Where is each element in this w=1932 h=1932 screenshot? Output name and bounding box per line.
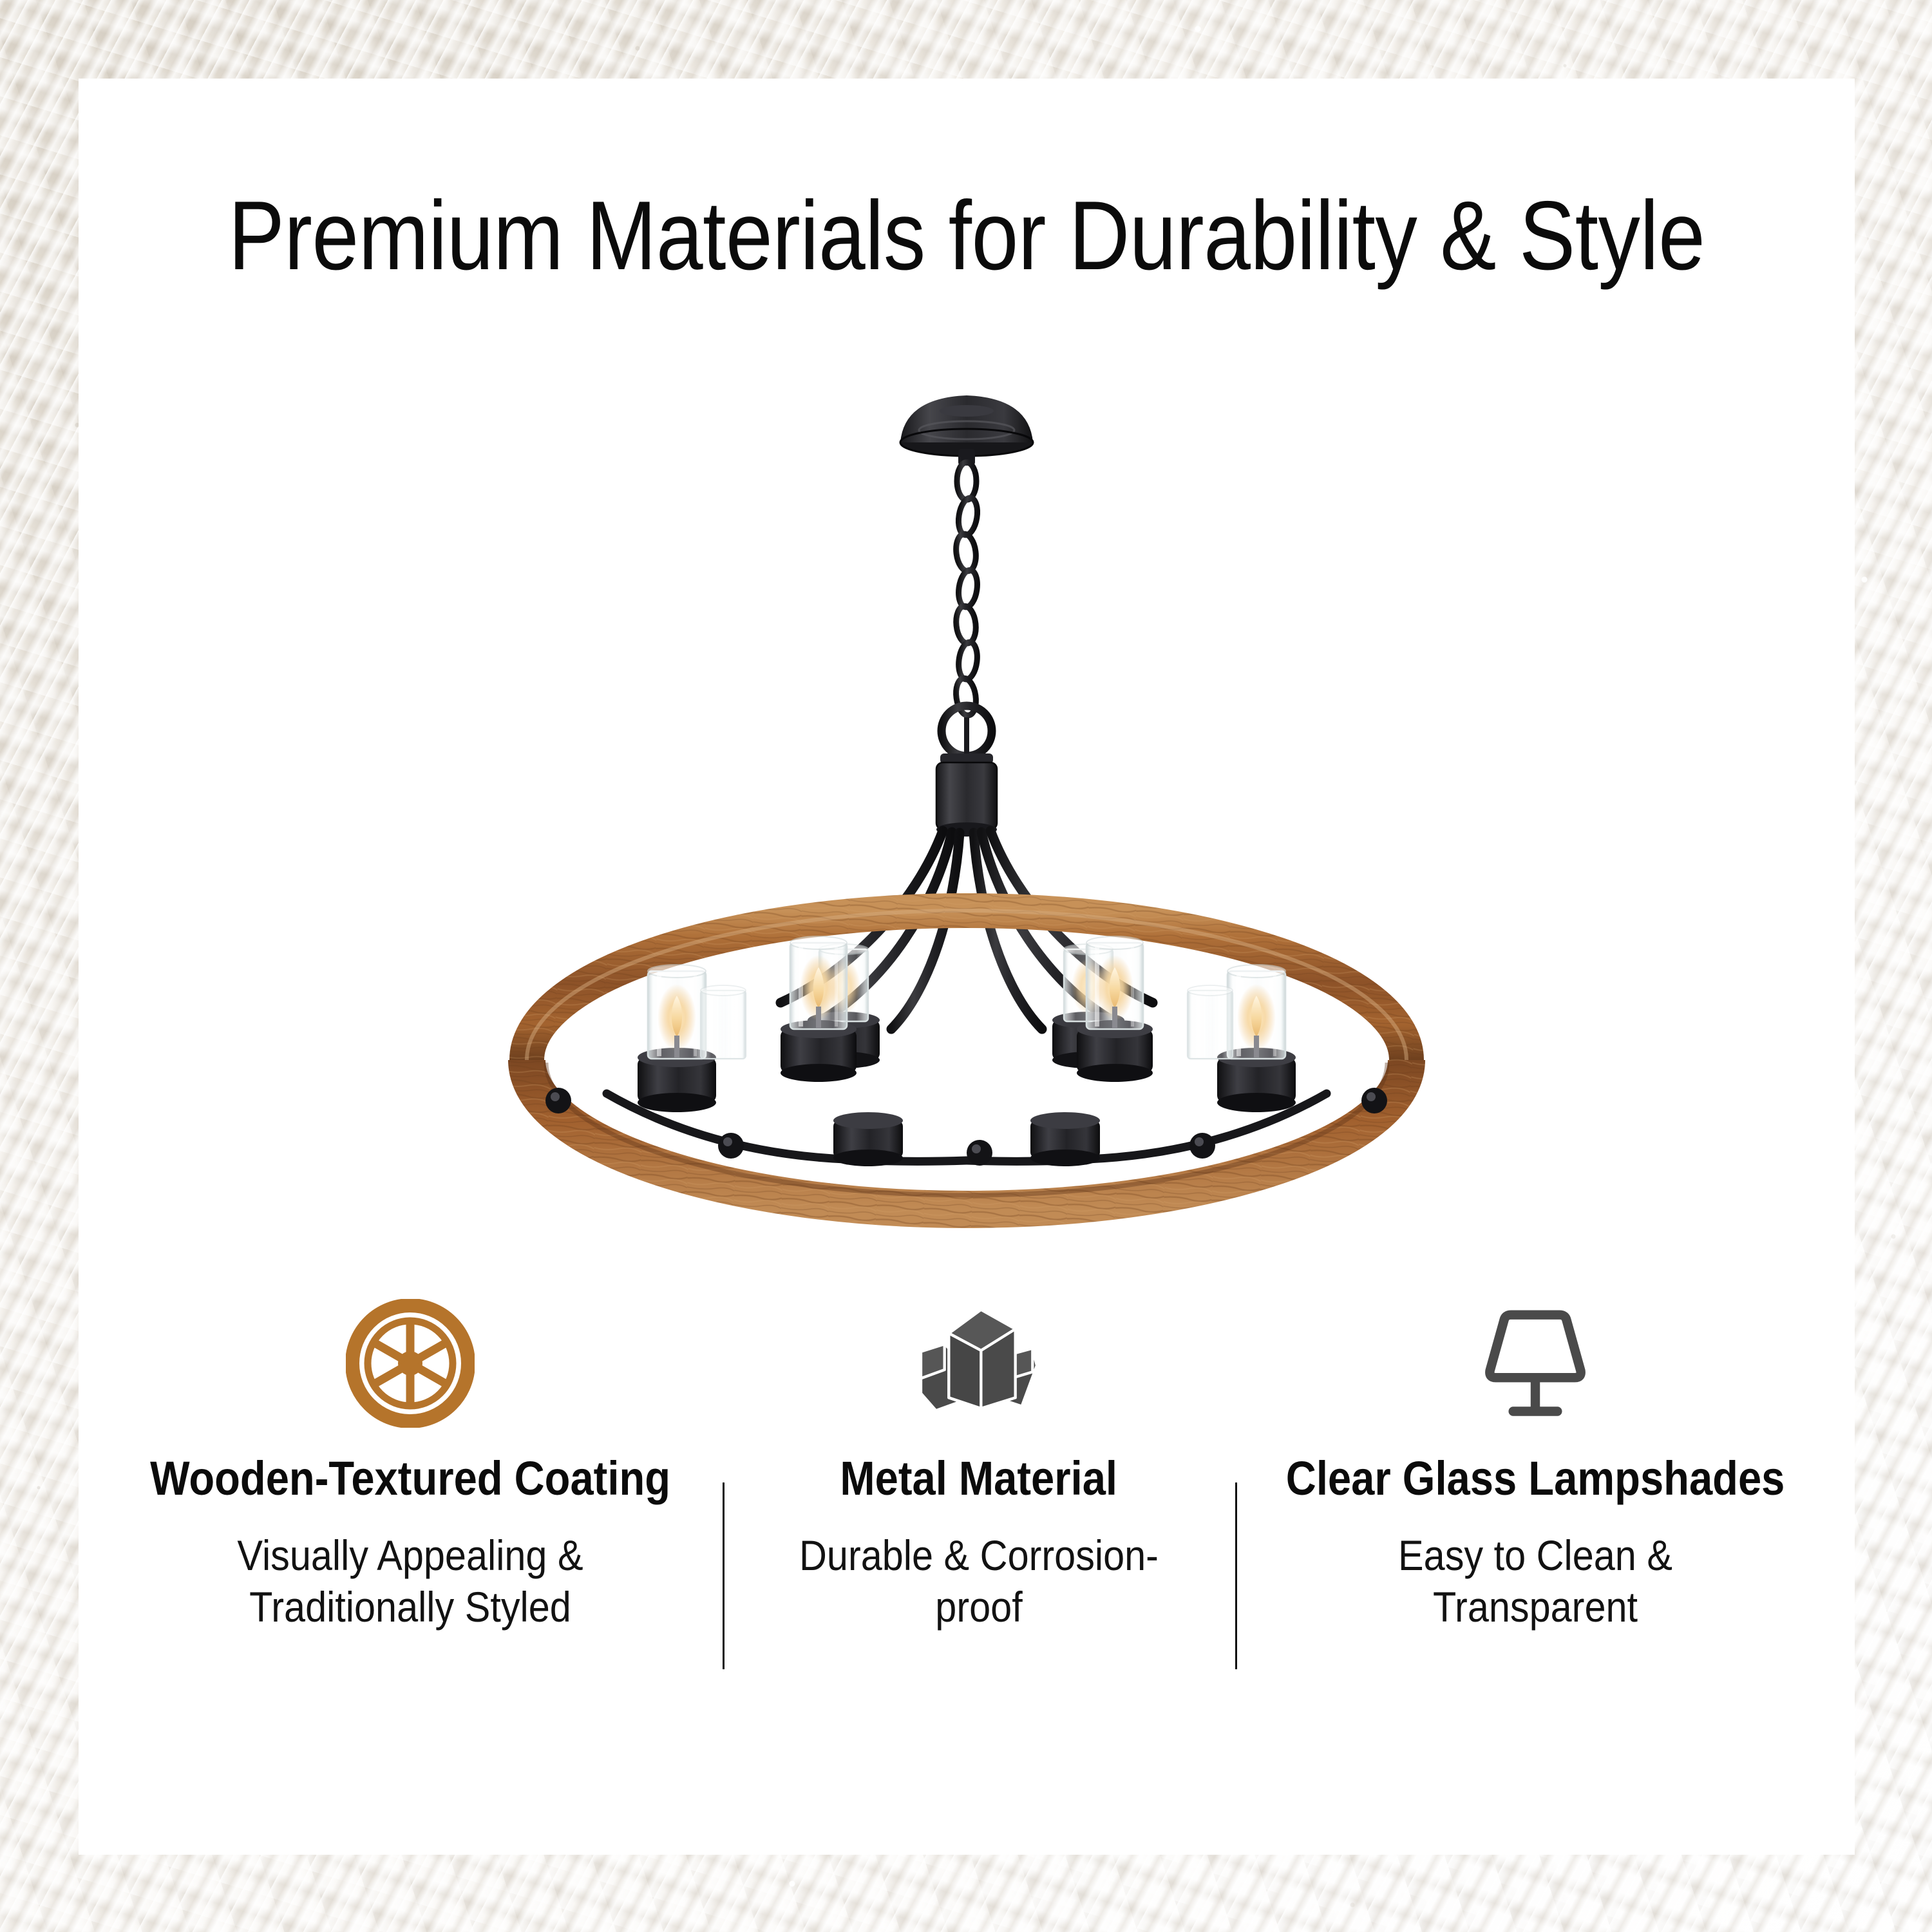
wagon-wheel-icon <box>346 1296 475 1431</box>
product-image-chandelier <box>79 323 1855 1289</box>
light-fixture-2 <box>781 936 857 1082</box>
feature-divider-1 <box>723 1482 724 1669</box>
feature-divider-2 <box>1235 1482 1237 1669</box>
light-socket-inner-right <box>1030 1112 1100 1166</box>
feature-subtitle: Visually Appealing & Traditionally Style… <box>225 1529 596 1633</box>
hanging-chain <box>954 462 980 717</box>
feature-subtitle: Durable & Corrosion-proof <box>793 1529 1164 1633</box>
white-content-card: Premium Materials for Durability & Style <box>79 79 1855 1855</box>
feature-clear-glass-lampshades: Clear Glass Lampshades Easy to Clean & T… <box>1235 1296 1835 1633</box>
ceiling-canopy <box>900 395 1033 466</box>
light-socket-inner-left <box>833 1112 903 1166</box>
feature-row: Wooden-Textured Coating Visually Appeali… <box>98 1296 1835 1747</box>
feature-subtitle: Easy to Clean & Transparent <box>1350 1529 1721 1633</box>
page-title: Premium Materials for Durability & Style <box>203 187 1730 285</box>
center-hub <box>936 753 997 837</box>
table-lamp-icon <box>1474 1296 1596 1431</box>
feature-metal-material: Metal Material Durable & Corrosion-proof <box>723 1296 1235 1633</box>
light-fixture-3 <box>1077 936 1153 1082</box>
metal-crystals-icon <box>914 1296 1043 1431</box>
feature-title: Wooden-Textured Coating <box>150 1454 670 1504</box>
feature-wooden-textured-coating: Wooden-Textured Coating Visually Appeali… <box>98 1296 723 1633</box>
infographic-root: Premium Materials for Durability & Style <box>0 0 1932 1932</box>
feature-title: Metal Material <box>840 1454 1118 1504</box>
feature-title: Clear Glass Lampshades <box>1286 1454 1785 1504</box>
